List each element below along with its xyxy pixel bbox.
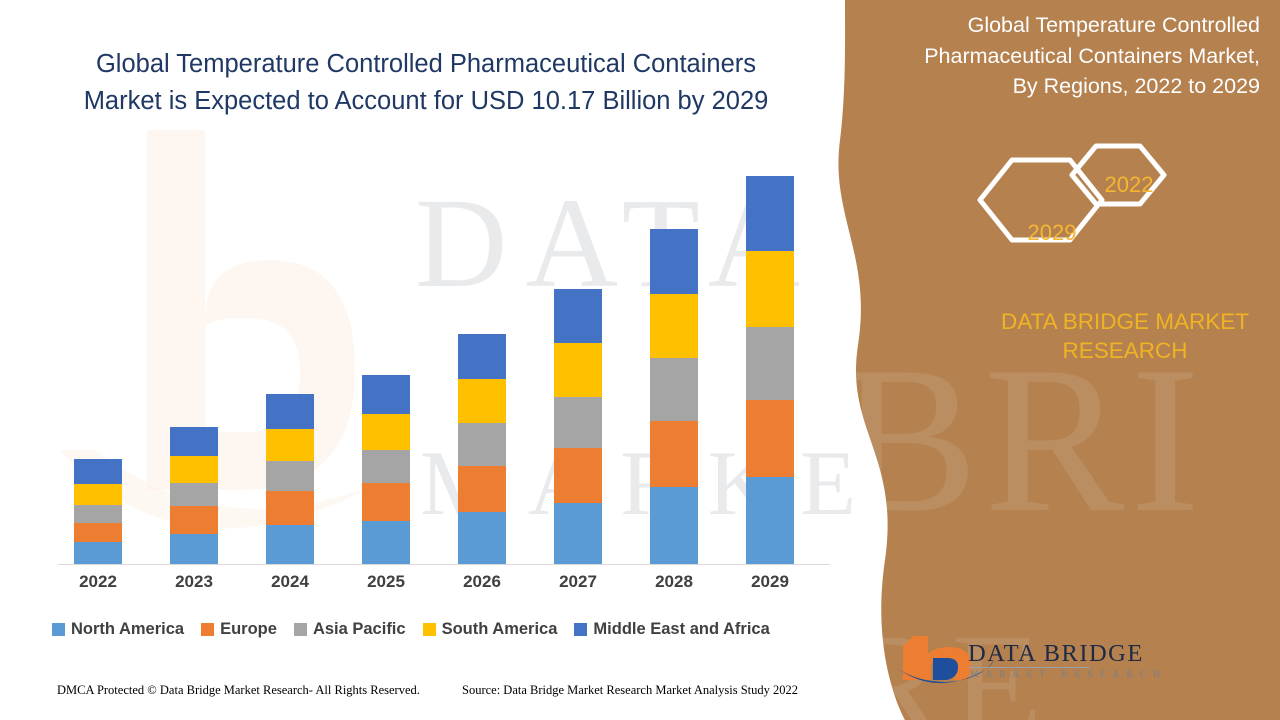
x-axis-label-2026: 2026 [447,572,517,592]
legend-item-europe[interactable]: Europe [201,620,277,639]
bar-segment-south-america[interactable] [746,251,794,327]
bar-segment-north-america[interactable] [362,521,410,564]
bar-segment-middle-east-and-africa[interactable] [746,176,794,251]
bar-segment-middle-east-and-africa[interactable] [170,427,218,456]
bar-segment-asia-pacific[interactable] [362,450,410,483]
legend-swatch-icon [574,623,587,636]
bar-segment-middle-east-and-africa[interactable] [650,229,698,294]
stacked-bar-chart [48,150,838,565]
bar-segment-middle-east-and-africa[interactable] [554,289,602,343]
legend-label: North America [71,620,184,639]
legend-item-south-america[interactable]: South America [423,620,558,639]
logo-tagline: MARKET RESEARCH [970,670,1167,680]
bar-segment-asia-pacific[interactable] [170,483,218,506]
bar-segment-middle-east-and-africa[interactable] [266,394,314,429]
footer-source: Source: Data Bridge Market Research Mark… [462,683,798,698]
infographic-canvas: DATA MARKET RESEARCH BRI RE Global Tempe… [0,0,1280,720]
bar-segment-north-america[interactable] [170,534,218,564]
legend-label: Middle East and Africa [593,620,769,639]
legend-label: Europe [220,620,277,639]
x-axis-label-2028: 2028 [639,572,709,592]
brand-line-2: RESEARCH [960,337,1280,366]
legend-swatch-icon [52,623,65,636]
hexagon-2022-label: 2022 [1085,172,1173,198]
bar-segment-europe[interactable] [554,448,602,503]
x-axis-label-2029: 2029 [735,572,805,592]
bar-segment-asia-pacific[interactable] [74,505,122,523]
x-axis-label-2025: 2025 [351,572,421,592]
bar-segment-asia-pacific[interactable] [746,327,794,400]
legend-label: South America [442,620,558,639]
bar-segment-europe[interactable] [170,506,218,534]
bar-segment-asia-pacific[interactable] [650,358,698,420]
legend-swatch-icon [294,623,307,636]
chart-legend: North AmericaEuropeAsia PacificSouth Ame… [52,616,842,642]
bar-2025[interactable] [362,375,410,564]
page-title: Global Temperature Controlled Pharmaceut… [56,46,796,120]
legend-item-asia-pacific[interactable]: Asia Pacific [294,620,406,639]
chart-axis-line [58,564,830,565]
brand-block: DATA BRIDGE MARKET RESEARCH [960,308,1280,366]
bar-2027[interactable] [554,289,602,564]
x-axis-label-2023: 2023 [159,572,229,592]
bar-segment-north-america[interactable] [458,512,506,564]
bar-segment-europe[interactable] [746,400,794,477]
hexagon-2029-label: 2029 [1008,220,1096,246]
bar-segment-south-america[interactable] [458,379,506,423]
bar-segment-asia-pacific[interactable] [458,423,506,466]
bar-segment-europe[interactable] [266,491,314,526]
bar-2028[interactable] [650,229,698,564]
x-axis-label-2024: 2024 [255,572,325,592]
bar-segment-europe[interactable] [362,483,410,522]
bar-2029[interactable] [746,176,794,564]
bar-segment-south-america[interactable] [554,343,602,397]
bar-segment-north-america[interactable] [554,503,602,564]
bar-segment-south-america[interactable] [266,429,314,461]
footer-copyright: DMCA Protected © Data Bridge Market Rese… [57,683,420,698]
bar-segment-europe[interactable] [74,523,122,542]
chart-x-axis-labels: 20222023202420252026202720282029 [48,572,838,596]
bar-segment-middle-east-and-africa[interactable] [362,375,410,414]
bar-segment-south-america[interactable] [74,484,122,505]
legend-item-north-america[interactable]: North America [52,620,184,639]
bar-segment-europe[interactable] [458,466,506,512]
right-panel-title: Global Temperature Controlled Pharmaceut… [905,10,1260,102]
bar-segment-north-america[interactable] [266,525,314,564]
x-axis-label-2027: 2027 [543,572,613,592]
bar-segment-south-america[interactable] [650,294,698,359]
bar-segment-north-america[interactable] [650,487,698,564]
bar-2023[interactable] [170,427,218,564]
bar-segment-middle-east-and-africa[interactable] [74,459,122,484]
bar-segment-middle-east-and-africa[interactable] [458,334,506,380]
legend-label: Asia Pacific [313,620,406,639]
bar-2022[interactable] [74,459,122,564]
brand-line-1: DATA BRIDGE MARKET [960,308,1280,337]
chart-bars [48,150,838,564]
x-axis-label-2022: 2022 [63,572,133,592]
hexagon-group [960,140,1250,300]
legend-item-middle-east-and-africa[interactable]: Middle East and Africa [574,620,769,639]
bar-segment-asia-pacific[interactable] [554,397,602,448]
bar-segment-south-america[interactable] [362,414,410,450]
bar-segment-asia-pacific[interactable] [266,461,314,491]
legend-swatch-icon [201,623,214,636]
bar-2024[interactable] [266,394,314,564]
bar-segment-europe[interactable] [650,421,698,487]
logo-wordmark: DATA BRIDGE [968,640,1144,668]
bar-segment-north-america[interactable] [74,542,122,564]
bar-2026[interactable] [458,334,506,564]
bar-segment-south-america[interactable] [170,456,218,482]
bar-segment-north-america[interactable] [746,477,794,564]
legend-swatch-icon [423,623,436,636]
